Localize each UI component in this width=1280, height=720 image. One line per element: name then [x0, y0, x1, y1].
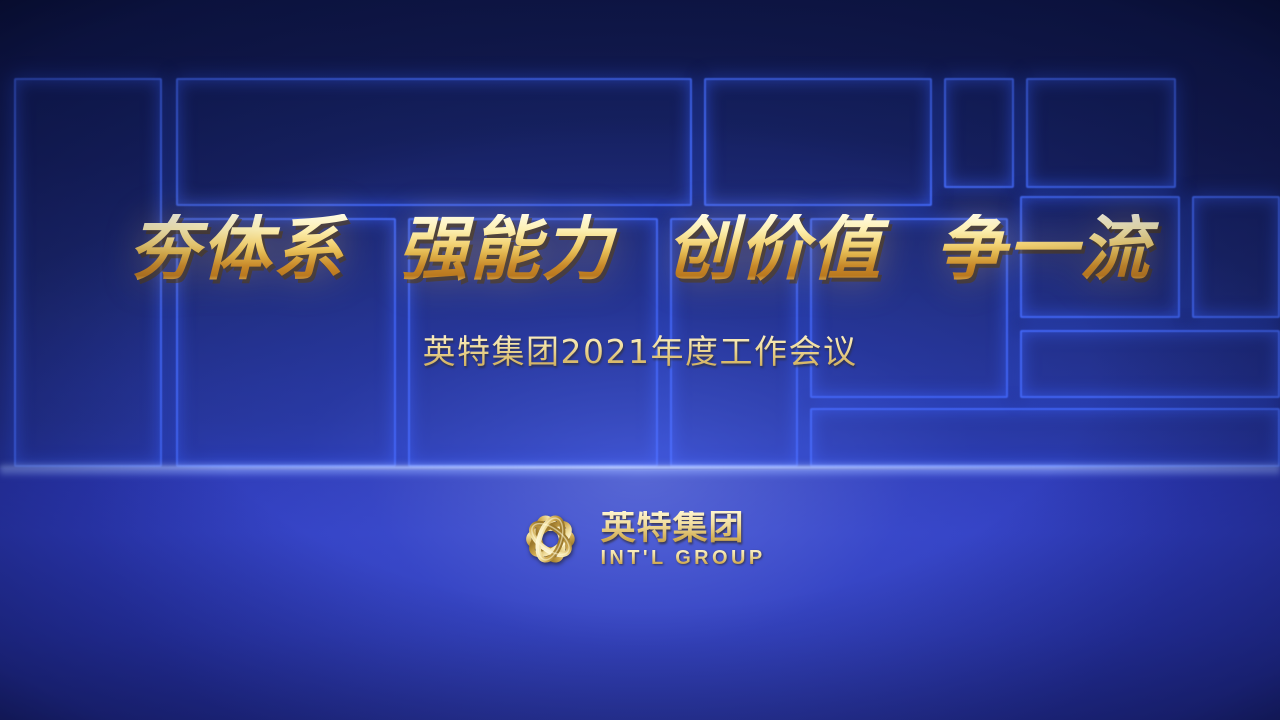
- logo-wordmark: 英特集团 INT'L GROUP: [600, 511, 765, 568]
- slide-content: 夯体系 强能力 创价值 争一流 英特集团2021年度工作会议: [0, 0, 1280, 720]
- title-slide: 夯体系 强能力 创价值 争一流 英特集团2021年度工作会议: [0, 0, 1280, 720]
- slide-main-title: 夯体系 强能力 创价值 争一流: [0, 214, 1280, 284]
- logo-name-en: INT'L GROUP: [600, 548, 765, 568]
- company-logo: 英特集团 INT'L GROUP: [514, 503, 765, 575]
- interlocking-pinwheel-knot-icon: [514, 503, 586, 575]
- logo-name-cn: 英特集团: [600, 511, 765, 546]
- slide-subtitle: 英特集团2021年度工作会议: [0, 325, 1280, 373]
